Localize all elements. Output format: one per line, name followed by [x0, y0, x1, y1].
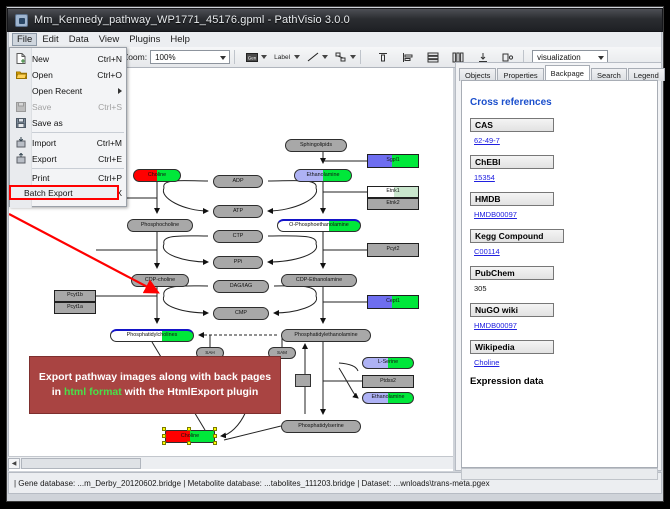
xref-kegg-compound: Kegg Compound C00114 [470, 229, 657, 256]
node-label: Phosphatidylserine [298, 424, 344, 429]
zoom-value: 100% [155, 53, 175, 62]
file-menu-item-open-recent[interactable]: Open Recent [10, 83, 128, 98]
label-tool-text: Label [274, 54, 290, 61]
scrollbar-thumb[interactable] [21, 458, 141, 469]
selection-handle-n[interactable] [187, 427, 191, 431]
node-label: CDP-Ethanolamine [296, 278, 342, 283]
menu-edit[interactable]: Edit [37, 33, 63, 46]
file-menu-label-batch-export: Batch Export [24, 188, 73, 198]
menu-separator-2 [32, 168, 124, 169]
file-menu-label-import: Import [32, 138, 56, 148]
xref-db-name: ChEBI [470, 155, 554, 169]
xref-nugo-wiki: NuGO wiki HMDB00097 [470, 303, 657, 330]
node-label: Phosphocholine [141, 223, 179, 228]
gene-label: Pcyt1b [67, 293, 83, 298]
line-icon[interactable] [305, 50, 320, 65]
file-menu-shortcut-import: Ctrl+M [97, 138, 122, 148]
pathway-node-sphingolipids[interactable]: Sphingolipids [285, 139, 347, 152]
gene-label: Pcyt1a [67, 305, 83, 310]
node-label: Choline [181, 434, 199, 439]
side-panel-footer [461, 468, 658, 480]
pathway-gene-ptdss2[interactable]: Ptdss2 [362, 375, 414, 388]
node-label: DAG/IAG [230, 284, 252, 289]
pathway-node-cmp[interactable]: CMP [213, 307, 269, 320]
node-label: ADP [232, 179, 243, 184]
file-menu-label-export: Export [32, 154, 57, 164]
align-top-icon[interactable] [375, 50, 390, 65]
pathway-gene-pcyt1b[interactable]: Pcyt1b [54, 290, 96, 302]
node-label: CDP-choline [145, 278, 175, 283]
file-menu-shortcut-open: Ctrl+O [97, 70, 122, 80]
node-label: Ethanolamine [307, 173, 340, 178]
menu-plugins[interactable]: Plugins [124, 33, 165, 46]
menu-help[interactable]: Help [165, 33, 195, 46]
node-label: Phosphatidylethanolamine [294, 333, 357, 338]
node-label: Phosphatidylcholines [127, 333, 178, 338]
pathway-gene-pcyt1a[interactable]: Pcyt1a [54, 302, 96, 314]
tab-backpage[interactable]: Backpage [545, 65, 590, 81]
pathway-node-ethanolamine-low[interactable]: Ethanolamine [362, 392, 414, 404]
align-left-icon[interactable] [400, 50, 415, 65]
interaction-dropdown-icon[interactable] [350, 55, 356, 59]
chevron-right-icon [118, 88, 122, 94]
pathway-node-ethanolamine-top[interactable]: Ethanolamine [294, 169, 352, 182]
interaction-icon[interactable] [333, 50, 348, 65]
chevron-down-icon [220, 56, 226, 60]
selection-handle-se[interactable] [213, 441, 217, 445]
gene-label: Pcyt2 [387, 247, 400, 252]
file-menu-popup[interactable]: New Ctrl+N Open Ctrl+O Open Recent Save … [9, 47, 127, 207]
pathway-node-phosphatidylethanolamine[interactable]: Phosphatidylethanolamine [281, 329, 371, 342]
backpage-content: Cross references CAS 62-49-7 ChEBI 15354… [461, 80, 658, 468]
zoom-combobox[interactable]: 100% [150, 50, 230, 64]
pathway-node-adp[interactable]: ADP [213, 175, 263, 188]
file-menu-item-import[interactable]: Import Ctrl+M [10, 135, 128, 150]
menu-file[interactable]: File [12, 33, 37, 46]
label-dropdown-icon[interactable] [294, 55, 300, 59]
xref-value-text: 305 [474, 284, 657, 293]
file-menu-item-new[interactable]: New Ctrl+N [10, 51, 128, 66]
pathway-node-cdp-ethanolamine[interactable]: CDP-Ethanolamine [281, 274, 357, 287]
side-panel-tabs: Objects Properties Backpage Search Legen… [459, 65, 659, 81]
file-menu-shortcut-new: Ctrl+N [98, 54, 122, 64]
file-menu-item-batch-export[interactable]: Batch Export [9, 185, 119, 200]
pathway-gene-etnk2[interactable]: Etnk2 [367, 198, 419, 210]
xref-wikipedia: Wikipedia Choline [470, 340, 657, 367]
gene-label: Sgpl1 [386, 158, 399, 163]
node-label: Choline [148, 173, 166, 178]
pathway-gene-cept1[interactable]: Cept1 [367, 295, 419, 309]
xref-pubchem: PubChem 305 [470, 266, 657, 293]
selection-handle-s[interactable] [187, 441, 191, 445]
file-menu-item-save-as[interactable]: Save as [10, 115, 128, 130]
app-icon [15, 14, 28, 27]
export-icon [10, 153, 32, 164]
window-title-bar: Mm_Kennedy_pathway_WP1771_45176.gpml - P… [7, 8, 663, 32]
label-icon[interactable]: Label [272, 50, 292, 65]
pathway-node-phosphatidylcholines[interactable]: Phosphatidylcholines [110, 329, 194, 342]
pathway-node-choline[interactable]: Choline [133, 169, 181, 182]
file-menu-item-open[interactable]: Open Ctrl+O [10, 67, 128, 82]
xref-db-name: Wikipedia [470, 340, 554, 354]
xref-db-name: HMDB [470, 192, 554, 206]
node-label: O-Phosphoethanolamine [289, 223, 349, 228]
node-label: ATP [233, 209, 243, 214]
gene-label: Etnk2 [386, 201, 399, 206]
pathway-gene-sgpl1[interactable]: Sgpl1 [367, 154, 419, 168]
menu-view[interactable]: View [94, 33, 124, 46]
file-menu-item-save: Save Ctrl+S [10, 99, 128, 114]
visualization-value: visualization [537, 53, 581, 62]
pathway-node-dag-iag[interactable]: DAG/IAG [213, 280, 269, 293]
node-label: Sphingolipids [300, 143, 332, 148]
menu-bar: File Edit Data View Plugins Help [8, 32, 662, 47]
import-icon [10, 137, 32, 148]
new-document-icon [10, 53, 32, 64]
file-menu-label-save-as: Save as [32, 118, 63, 128]
selection-handle-w[interactable] [162, 434, 166, 438]
pathway-node-ctp[interactable]: CTP [213, 230, 263, 243]
pathway-node-ppi[interactable]: PPi [213, 256, 263, 269]
side-panel: Objects Properties Backpage Search Legen… [455, 62, 662, 471]
node-label: CMP [235, 311, 247, 316]
file-menu-shortcut-print: Ctrl+P [98, 173, 122, 183]
xref-db-name: CAS [470, 118, 554, 132]
chevron-down-icon-2 [598, 56, 604, 60]
file-menu-label-new: New [32, 54, 49, 64]
file-menu-label-print: Print [32, 173, 49, 183]
stack-center-icon[interactable] [425, 50, 440, 65]
toolbar-separator-2 [360, 50, 361, 64]
xref-value-link[interactable]: 15354 [474, 173, 657, 182]
node-label: L-Serine [378, 360, 398, 365]
line-dropdown-icon[interactable] [322, 55, 328, 59]
selection-handle-e[interactable] [213, 434, 217, 438]
node-label: SAM [277, 351, 287, 356]
folder-open-icon [10, 70, 32, 80]
save-as-icon [10, 118, 32, 128]
pathway-node-cdp-choline[interactable]: CDP-choline [131, 274, 189, 287]
save-disabled-icon [10, 102, 32, 112]
xref-db-name: PubChem [470, 266, 554, 280]
xref-value-link[interactable]: C00114 [474, 247, 657, 256]
cross-references-title: Cross references [470, 97, 657, 108]
toolbar-separator [234, 50, 235, 64]
file-menu-shortcut-export: Ctrl+E [98, 154, 122, 164]
canvas-horizontal-scrollbar[interactable]: ◀ [8, 456, 453, 469]
selection-handle-sw[interactable] [162, 441, 166, 445]
xref-value-link[interactable]: Choline [474, 358, 657, 367]
selection-handle-nw[interactable] [162, 427, 166, 431]
file-menu-item-export[interactable]: Export Ctrl+E [10, 151, 128, 166]
xref-cas: CAS 62-49-7 [470, 118, 657, 145]
file-menu-item-print[interactable]: Print Ctrl+P [10, 170, 128, 185]
pathway-node-l-serine[interactable]: L-Serine [362, 357, 414, 369]
xref-value-link[interactable]: 62-49-7 [474, 136, 657, 145]
file-menu-label-save: Save [32, 102, 51, 112]
xref-chebi: ChEBI 15354 [470, 155, 657, 182]
pathway-anchor-shape[interactable] [295, 374, 311, 387]
gene-label: Ptdss2 [380, 379, 396, 384]
node-label: PPi [234, 260, 242, 265]
screen-frame: Mm_Kennedy_pathway_WP1771_45176.gpml - P… [0, 0, 670, 509]
window-title: Mm_Kennedy_pathway_WP1771_45176.gpml - P… [34, 14, 350, 26]
callout-highlight: html format [64, 386, 122, 398]
xref-hmdb: HMDB HMDB00097 [470, 192, 657, 219]
pathway-node-o-phosphoethanolamine[interactable]: O-Phosphoethanolamine [277, 219, 361, 232]
pathway-node-atp[interactable]: ATP [213, 205, 263, 218]
annotation-callout: Export pathway images along with back pa… [29, 356, 281, 414]
menu-data[interactable]: Data [64, 33, 94, 46]
xref-db-name: NuGO wiki [470, 303, 554, 317]
svg-text:Gen: Gen [247, 55, 256, 60]
pathway-node-phosphocholine[interactable]: Phosphocholine [127, 219, 193, 232]
expression-data-title: Expression data [470, 376, 657, 387]
pathway-gene-pcyt2[interactable]: Pcyt2 [367, 243, 419, 257]
selection-handle-ne[interactable] [213, 427, 217, 431]
xref-value-link[interactable]: HMDB00097 [474, 210, 657, 219]
menu-separator-1 [32, 132, 124, 133]
file-menu-shortcut-save: Ctrl+S [98, 102, 122, 112]
pathway-gene-etnk1[interactable]: Etnk1 [367, 186, 419, 198]
node-label: Ethanolamine [372, 395, 405, 400]
node-label: CTP [233, 234, 244, 239]
scroll-left-icon[interactable]: ◀ [8, 458, 20, 469]
file-menu-label-open: Open [32, 70, 53, 80]
file-menu-label-open-recent: Open Recent [32, 86, 82, 96]
xref-value-link[interactable]: HMDB00097 [474, 321, 657, 330]
pathway-node-phosphatidylserine[interactable]: Phosphatidylserine [281, 420, 361, 433]
gene-label: Etnk1 [386, 189, 399, 194]
datanode-icon[interactable]: Gen [244, 50, 259, 65]
callout-text-after: with the HtmlExport plugin [122, 386, 259, 398]
gene-label: Cept1 [386, 299, 400, 304]
node-label: SAH [205, 351, 214, 356]
datanode-dropdown-icon[interactable] [261, 55, 267, 59]
xref-db-name: Kegg Compound [470, 229, 564, 243]
status-text: | Gene database: ...m_Derby_20120602.bri… [14, 479, 490, 488]
